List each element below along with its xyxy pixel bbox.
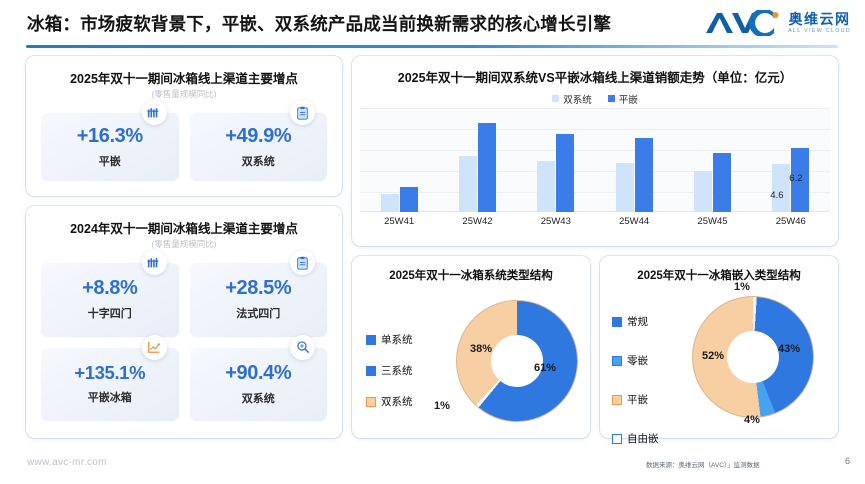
avc-logo-en: ALL VIEW CLOUD — [788, 29, 851, 34]
donut-slice-pct-pingqian: 52% — [702, 350, 724, 362]
x-tick-25W45: 25W45 — [688, 216, 736, 227]
page-header: 冰箱：市场疲软背景下，平嵌、双系统产品成当前换新需求的核心增长引擎 奥维云网 A… — [0, 0, 865, 48]
kpi-card-shuangxitong-2024[interactable]: +90.4% 双系统 — [189, 347, 329, 423]
kpi-card-pingqianbingxiang[interactable]: +135.1% 平嵌冰箱 — [40, 347, 180, 423]
bar-group — [616, 138, 653, 212]
donut-slice-pct-ziyouqian: 1% — [734, 281, 750, 293]
kpi-value: +28.5% — [225, 278, 291, 298]
legend-item-sanxitong[interactable]: 三系统 — [366, 363, 413, 378]
page-title: 冰箱：市场疲软背景下，平嵌、双系统产品成当前换新需求的核心增长引擎 — [27, 11, 611, 36]
legend-swatch — [612, 317, 622, 327]
bar-group — [381, 187, 418, 212]
kpi-value: +8.8% — [82, 278, 137, 298]
avc-logo: 奥维云网 ALL VIEW CLOUD — [704, 8, 851, 38]
kpi-card-fashisimen[interactable]: +28.5% 法式四门 — [189, 262, 329, 338]
x-tick-25W46: 25W46 — [767, 216, 815, 227]
bar-双系统-25W42[interactable] — [459, 156, 477, 212]
bar-group — [537, 134, 574, 212]
donut-hole — [727, 331, 779, 383]
bar-双系统-25W46[interactable] — [772, 164, 790, 212]
header-divider — [26, 45, 838, 48]
donut-slice-pct-lingqian: 4% — [744, 414, 760, 426]
legend-item-1[interactable]: 平嵌 — [608, 92, 638, 106]
kpi-value: +90.4% — [225, 363, 291, 383]
panel-donut-system: 2025年双十一冰箱系统类型结构 单系统 三系统 双系统 61% 1% 38% — [352, 256, 590, 438]
kpi-label: 平嵌冰箱 — [88, 389, 132, 405]
legend-swatch — [612, 434, 622, 444]
panel-bar-chart-title: 2025年双十一期间双系统VS平嵌冰箱线上渠道销额走势（单位：亿元） — [352, 67, 838, 86]
legend-item-lingqian[interactable]: 零嵌 — [612, 353, 659, 368]
people-icon — [142, 100, 167, 125]
panel-2025-kpi-subtitle: (零售量规模同比) — [26, 88, 342, 100]
legend-item-shuangxitong[interactable]: 双系统 — [366, 394, 413, 409]
clipboard-icon — [290, 100, 315, 125]
bar-平嵌-25W43[interactable] — [556, 134, 574, 212]
legend-item-danxitong[interactable]: 单系统 — [366, 332, 413, 347]
panel-donut-embed-title: 2025年双十一冰箱嵌入类型结构 — [600, 267, 838, 283]
bar-chart-legend: 双系统 平嵌 — [352, 92, 838, 106]
panel-2025-kpi-title: 2025年双十一期间冰箱线上渠道主要增点 — [26, 68, 342, 87]
panel-2024-kpi-title: 2024年双十一期间冰箱线上渠道主要增点 — [26, 218, 342, 237]
donut-slice-pct-changgui: 43% — [778, 343, 800, 355]
kpi-card-shuangxitong[interactable]: +49.9% 双系统 — [189, 112, 329, 182]
donut-system-chart: 61% 1% 38% — [456, 300, 578, 422]
legend-item-0[interactable]: 双系统 — [552, 92, 592, 106]
panel-donut-embed: 2025年双十一冰箱嵌入类型结构 常规 零嵌 平嵌 自由嵌 43% 4% 52%… — [600, 256, 838, 438]
bar-双系统-25W41[interactable] — [381, 194, 399, 212]
panel-2024-kpi: 2024年双十一期间冰箱线上渠道主要增点 (零售量规模同比) +8.8% 十字四… — [26, 206, 342, 438]
kpi-card-shizisimen[interactable]: +8.8% 十字四门 — [40, 262, 180, 338]
x-tick-25W43: 25W43 — [532, 216, 580, 227]
x-tick-25W42: 25W42 — [453, 216, 501, 227]
bar-chart-x-axis: 25W4125W4225W4325W4425W4525W46 — [360, 216, 830, 227]
line-chart-icon — [142, 335, 167, 360]
panel-bar-chart: 2025年双十一期间双系统VS平嵌冰箱线上渠道销额走势（单位：亿元） 双系统 平… — [352, 56, 838, 246]
footer-page-number: 6 — [845, 456, 850, 466]
legend-label: 自由嵌 — [627, 431, 659, 446]
legend-swatch — [366, 397, 376, 407]
legend-item-changgui[interactable]: 常规 — [612, 314, 659, 329]
donut-slice-pct-danxitong: 61% — [534, 362, 556, 374]
legend-swatch — [612, 395, 622, 405]
bar-平嵌-25W45[interactable] — [713, 153, 731, 212]
clipboard-icon — [290, 250, 315, 275]
avc-wordmark-icon — [704, 10, 782, 36]
kpi-value: +135.1% — [74, 364, 145, 383]
x-tick-25W44: 25W44 — [610, 216, 658, 227]
legend-swatch — [366, 335, 376, 345]
footer-url[interactable]: www.avc-mr.com — [27, 457, 107, 468]
bar-平嵌-25W44[interactable] — [635, 138, 653, 212]
bar-plot-area: 4.66.2 — [360, 108, 830, 212]
donut-embed-legend: 常规 零嵌 平嵌 自由嵌 — [612, 314, 659, 446]
kpi-label: 法式四门 — [236, 305, 280, 321]
people-icon — [142, 250, 167, 275]
bar-group: 4.66.2 — [772, 148, 809, 212]
avc-logo-cn: 奥维云网 — [789, 12, 851, 26]
legend-label: 单系统 — [381, 332, 413, 347]
kpi-label: 双系统 — [242, 153, 275, 169]
legend-swatch — [366, 366, 376, 376]
kpi-value: +16.3% — [77, 126, 143, 146]
legend-label: 零嵌 — [627, 353, 648, 368]
legend-label: 常规 — [627, 314, 648, 329]
avc-logo-text: 奥维云网 ALL VIEW CLOUD — [788, 12, 851, 34]
donut-slice-pct-shuangxitong: 38% — [470, 343, 492, 355]
bar-series-container: 4.66.2 — [360, 108, 830, 212]
legend-label: 平嵌 — [619, 95, 638, 106]
bar-平嵌-25W42[interactable] — [478, 123, 496, 212]
kpi-card-pingqian[interactable]: +16.3% 平嵌 — [40, 112, 180, 182]
bar-group — [459, 123, 496, 212]
panel-donut-system-title: 2025年双十一冰箱系统类型结构 — [352, 267, 590, 283]
kpi-value: +49.9% — [225, 126, 291, 146]
donut-hole — [491, 335, 543, 387]
legend-item-pingqian[interactable]: 平嵌 — [612, 392, 659, 407]
donut-slice-pct-sanxitong: 1% — [434, 400, 450, 412]
legend-swatch — [552, 95, 559, 102]
panel-2025-kpi: 2025年双十一期间冰箱线上渠道主要增点 (零售量规模同比) +16.3% 平嵌 — [26, 56, 342, 196]
legend-label: 平嵌 — [627, 392, 648, 407]
footer-source: 数据来源：奥维云网（AVC）」监测数据 — [646, 459, 760, 469]
kpi-label: 双系统 — [242, 390, 275, 406]
bar-平嵌-25W41[interactable] — [400, 187, 418, 212]
legend-label: 双系统 — [563, 95, 592, 106]
legend-item-ziyouqian[interactable]: 自由嵌 — [612, 431, 659, 446]
bar-双系统-25W45[interactable] — [694, 171, 712, 212]
kpi-label: 平嵌 — [99, 153, 121, 169]
bar-双系统-25W44[interactable] — [616, 163, 634, 212]
donut-system-legend: 单系统 三系统 双系统 — [366, 332, 413, 409]
legend-label: 双系统 — [381, 394, 413, 409]
x-tick-25W41: 25W41 — [375, 216, 423, 227]
bar-group — [694, 153, 731, 212]
bar-双系统-25W43[interactable] — [537, 161, 555, 212]
legend-label: 三系统 — [381, 363, 413, 378]
legend-swatch — [612, 356, 622, 366]
search-icon — [290, 335, 315, 360]
kpi-label: 十字四门 — [88, 305, 132, 321]
donut-embed-chart: 43% 4% 52% 1% — [692, 296, 814, 418]
panel-2024-kpi-subtitle: (零售量规模同比) — [26, 238, 342, 250]
legend-swatch — [608, 95, 615, 102]
